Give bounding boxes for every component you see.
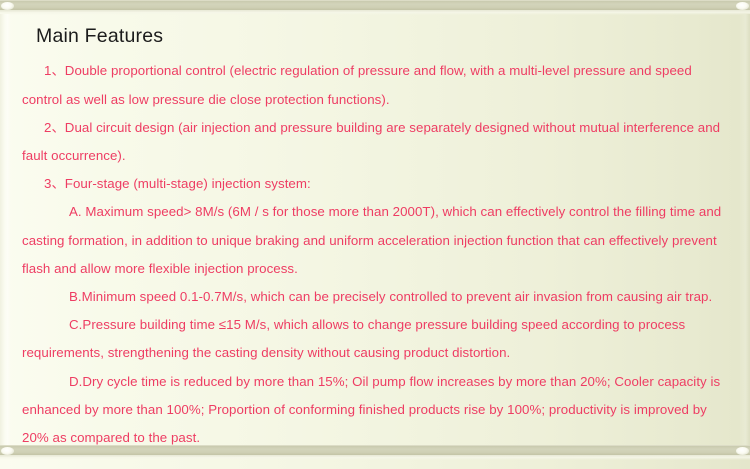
- page-title: Main Features: [36, 26, 732, 47]
- list-item: 2、Dual circuit design (air injection and…: [22, 114, 732, 170]
- content-area: Main Features 1、Double proportional cont…: [0, 14, 750, 445]
- list-item: D.Dry cycle time is reduced by more than…: [22, 368, 732, 453]
- bottom-ornament-band: [0, 445, 750, 460]
- diamond-bead-accent-bottom-right: [736, 447, 749, 455]
- band-fill: [0, 446, 750, 455]
- top-ornament-band: [0, 0, 750, 15]
- list-item: A. Maximum speed> 8M/s (6M / s for those…: [22, 198, 732, 283]
- band-fill: [0, 1, 750, 10]
- diamond-bead-accent-top-right: [736, 2, 749, 10]
- features-list: 1、Double proportional control (electric …: [22, 57, 732, 452]
- list-item: B.Minimum speed 0.1-0.7M/s, which can be…: [22, 283, 732, 311]
- band-base-fade: [0, 457, 750, 460]
- diamond-bead-accent-bottom-left: [1, 447, 14, 455]
- list-item: C.Pressure building time ≤15 M/s, which …: [22, 311, 732, 367]
- list-item: 1、Double proportional control (electric …: [22, 57, 732, 113]
- main-features-panel: Main Features 1、Double proportional cont…: [0, 0, 750, 469]
- list-item: 3、Four-stage (multi-stage) injection sys…: [22, 170, 732, 198]
- diamond-bead-accent-top-left: [1, 2, 14, 10]
